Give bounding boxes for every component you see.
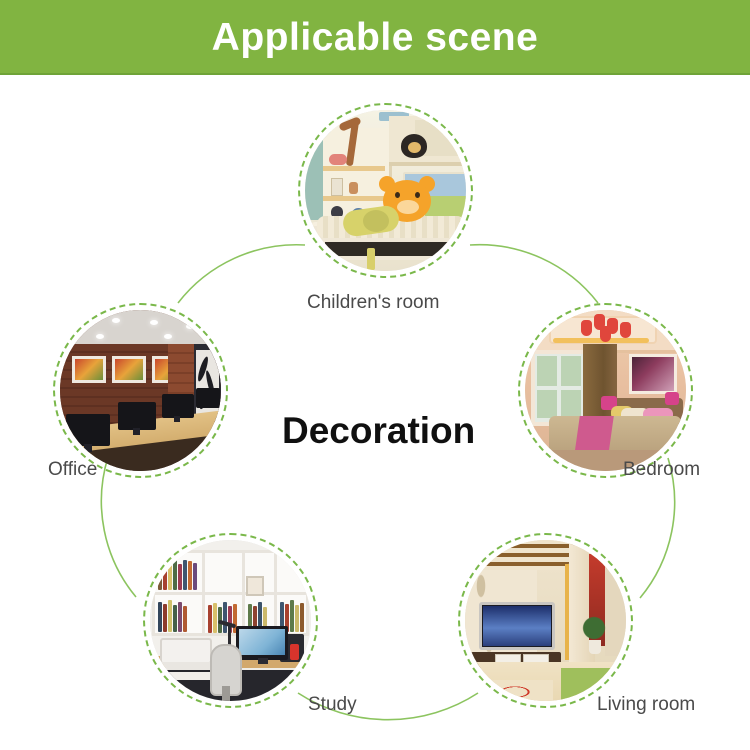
- children-room-ring: [298, 103, 473, 278]
- scene-diagram: Children's room: [0, 75, 750, 750]
- label-children-room: Children's room: [307, 293, 439, 312]
- node-bedroom[interactable]: [518, 303, 693, 478]
- bedroom-ring: [518, 303, 693, 478]
- node-living-room[interactable]: [458, 533, 633, 708]
- label-office: Office: [48, 460, 97, 479]
- arc-study-office: [101, 457, 136, 597]
- label-study: Study: [308, 695, 357, 714]
- node-office[interactable]: [53, 303, 228, 478]
- label-living-room: Living room: [597, 695, 695, 714]
- study-ring: [143, 533, 318, 708]
- header-banner: Applicable scene: [0, 0, 750, 75]
- arc-office-children: [178, 245, 305, 303]
- arc-children-bedroom: [470, 245, 598, 303]
- page-title: Applicable scene: [212, 18, 539, 57]
- label-bedroom: Bedroom: [623, 460, 700, 479]
- living-room-ring: [458, 533, 633, 708]
- office-ring: [53, 303, 228, 478]
- center-label: Decoration: [282, 412, 475, 449]
- applicable-scene-poster: Applicable scene: [0, 0, 750, 750]
- node-children-room[interactable]: [298, 103, 473, 278]
- node-study[interactable]: [143, 533, 318, 708]
